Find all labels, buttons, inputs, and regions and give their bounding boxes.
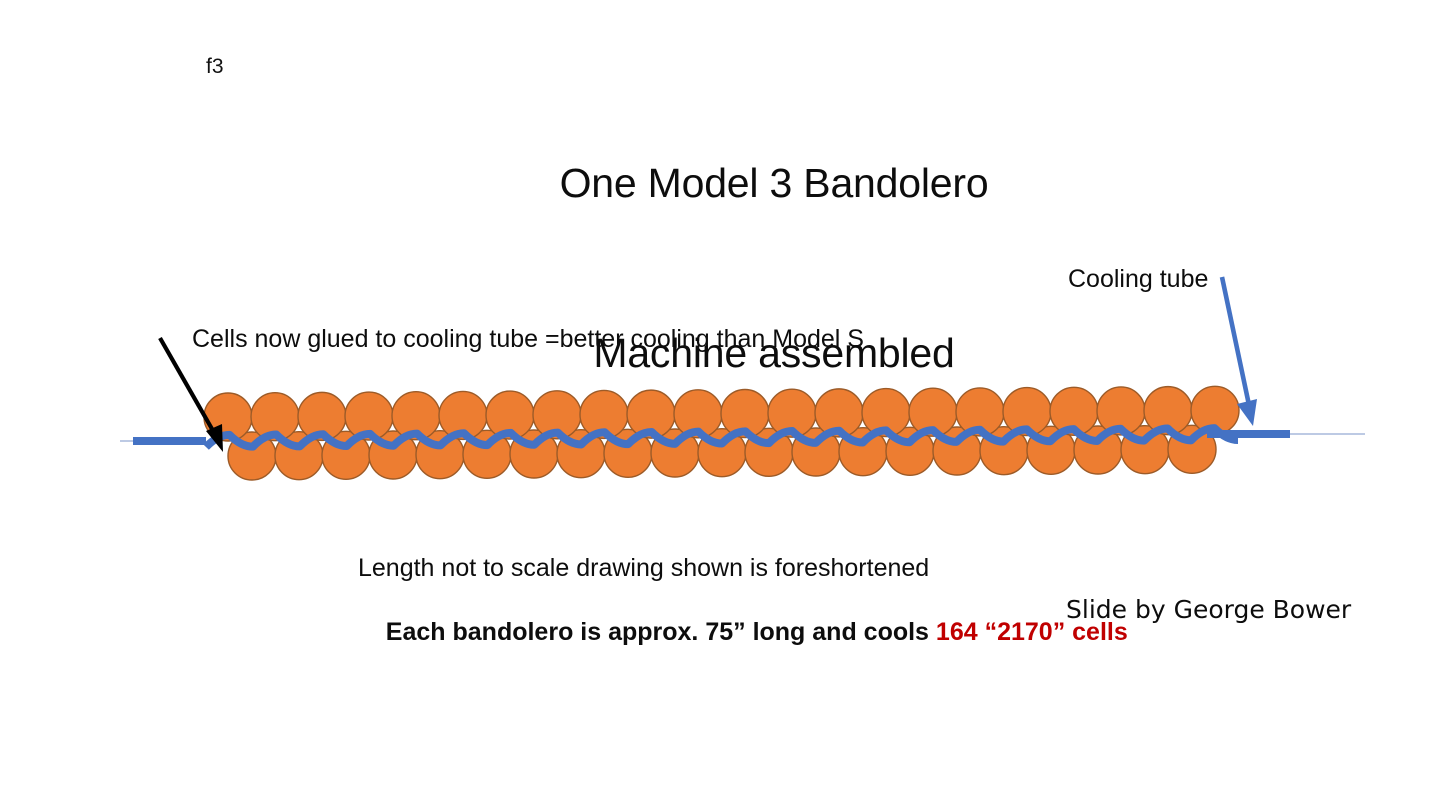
page-title: One Model 3 Bandolero Machine assembled	[0, 42, 1440, 495]
title-line-1: One Model 3 Bandolero	[108, 155, 1440, 212]
presentation-slide: f3 One Model 3 Bandolero Machine assembl…	[0, 0, 1440, 810]
slide-credit: Slide by George Bower	[1066, 595, 1351, 625]
bandolero-spec-note: Each bandolero is approx. 75” long and c…	[358, 588, 1128, 677]
bandolero-spec-black: Each bandolero is approx. 75” long and c…	[386, 618, 936, 646]
scale-note: Length not to scale drawing shown is for…	[358, 554, 929, 584]
cells-annotation: Cells now glued to cooling tube =better …	[192, 325, 864, 355]
cooling-tube-label: Cooling tube	[1068, 265, 1208, 295]
